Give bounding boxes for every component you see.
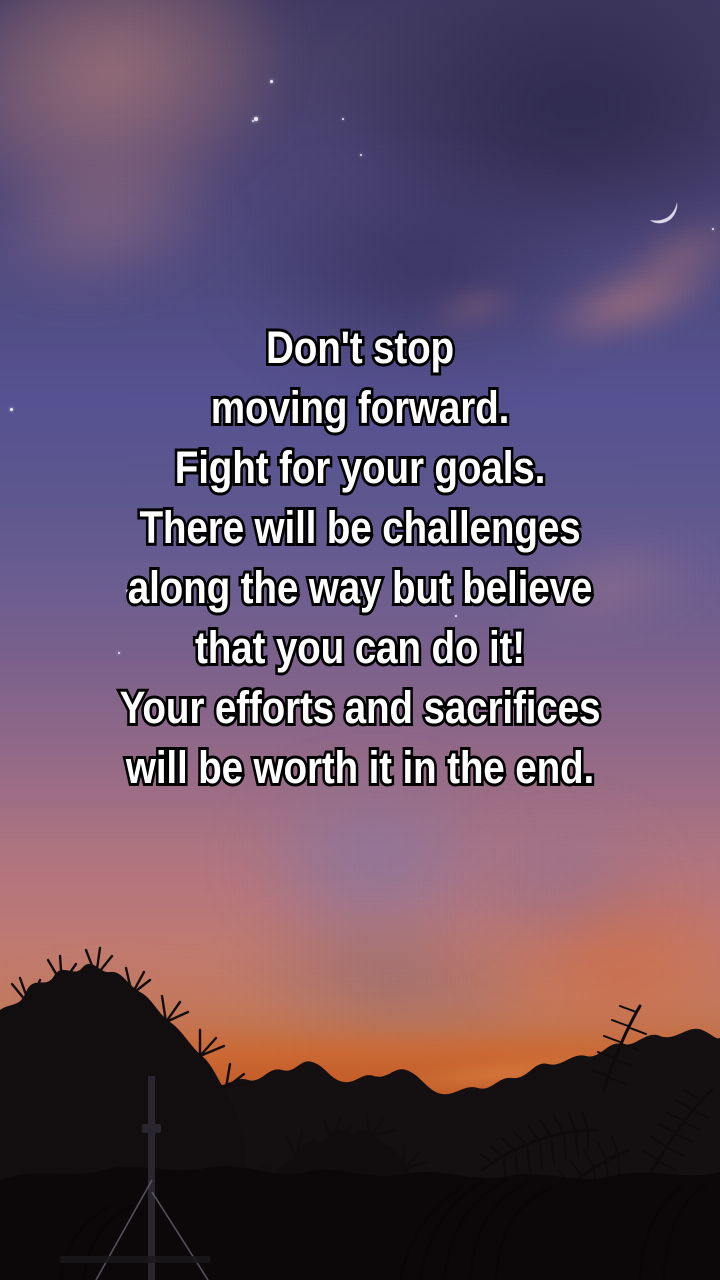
quote-text-block: Don't stopmoving forward.Fight for your … [0, 318, 720, 798]
quote-line: will be worth it in the end. [64, 738, 656, 798]
quote-line: Fight for your goals. [64, 438, 656, 498]
wallpaper-canvas: Don't stopmoving forward.Fight for your … [0, 0, 720, 1280]
quote-line: along the way but believe [64, 558, 656, 618]
foreground-silhouettes [0, 880, 720, 1280]
quote-line: There will be challenges [64, 498, 656, 558]
quote-line: Your efforts and sacrifices [64, 678, 656, 738]
quote-line: that you can do it! [64, 618, 656, 678]
quote-line: moving forward. [64, 378, 656, 438]
quote-line: Don't stop [64, 318, 656, 378]
